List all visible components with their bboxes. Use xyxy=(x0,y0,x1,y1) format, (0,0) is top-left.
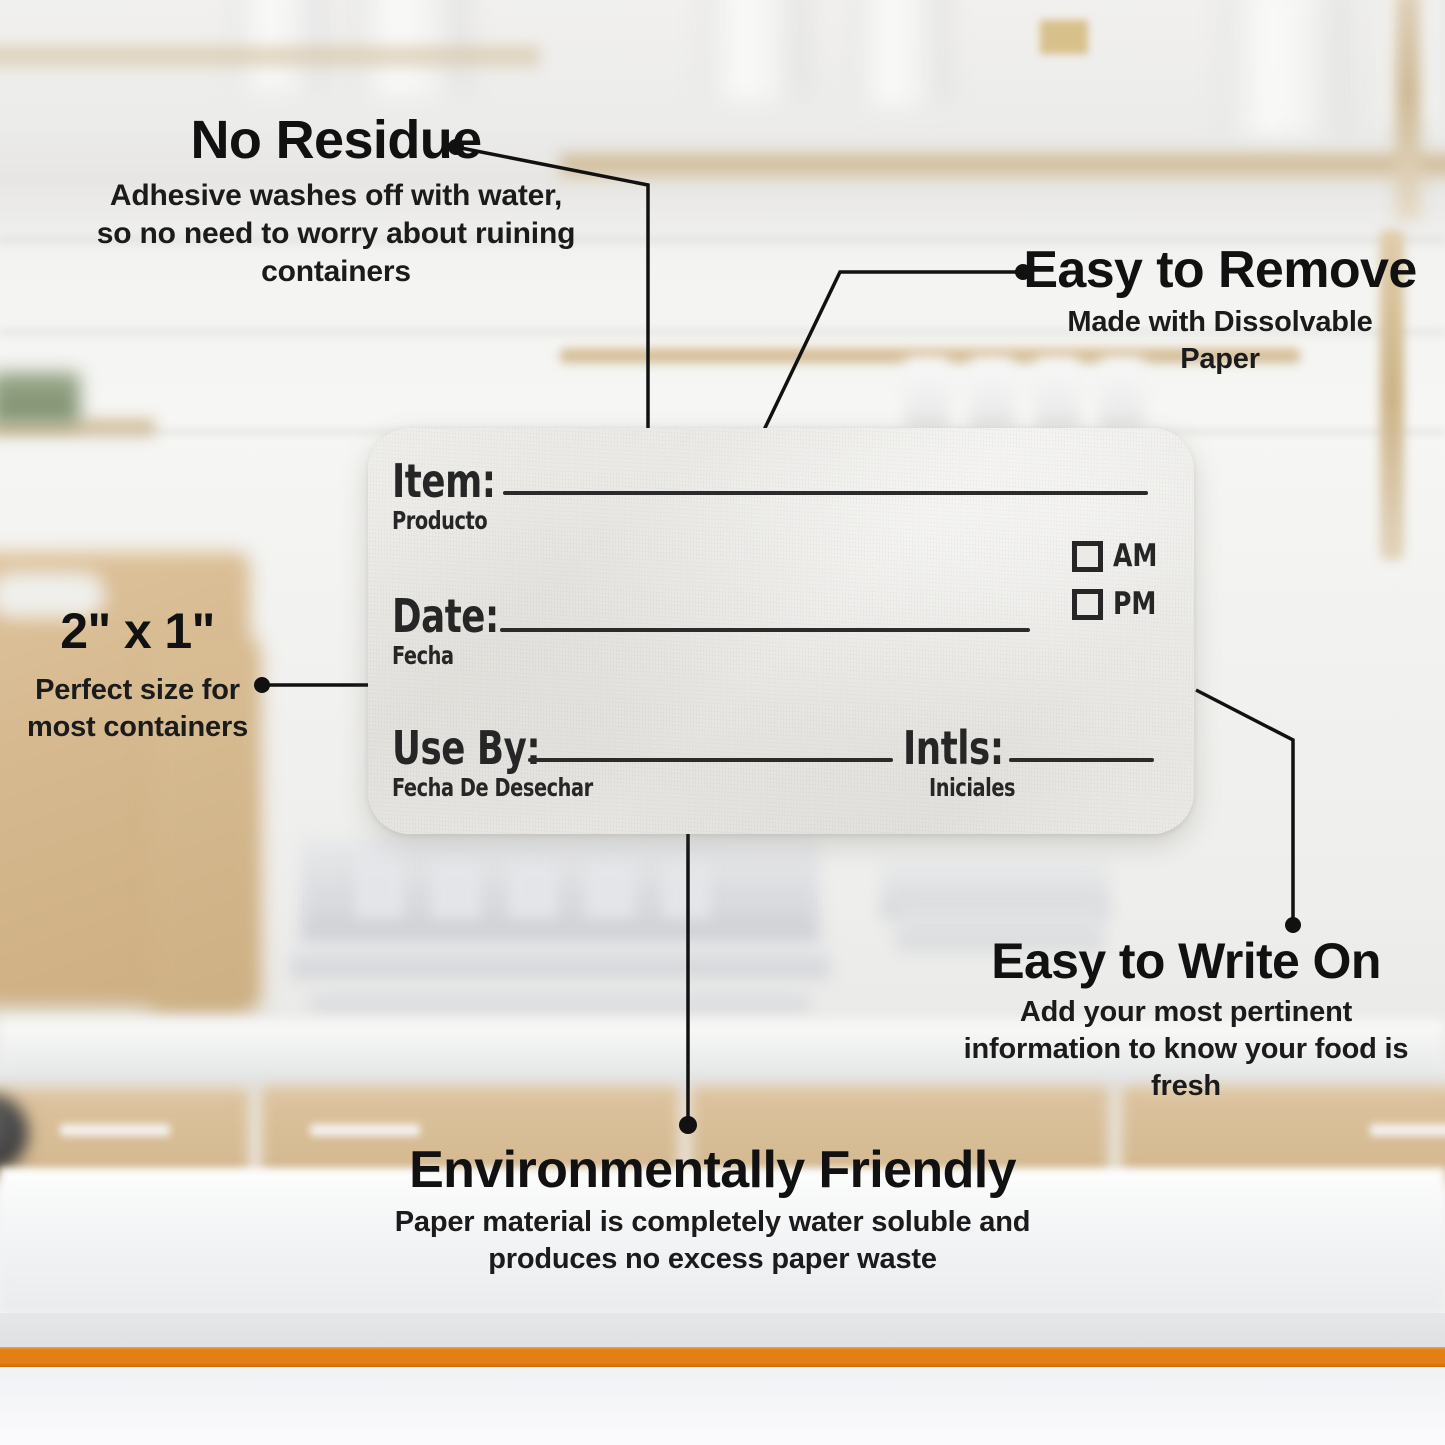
label-ampm-row-am[interactable]: AM xyxy=(1072,538,1162,574)
dish-rack-slot xyxy=(509,846,557,918)
upper-shelf-edge xyxy=(560,152,1445,180)
callout-size: 2" x 1" Perfect size for most containers xyxy=(0,605,275,746)
callout-no-residue-title: No Residue xyxy=(66,112,606,169)
dish-rack-slot xyxy=(663,846,711,918)
callout-body-line: Add your most pertinent xyxy=(930,994,1442,1031)
footer-accent-band xyxy=(0,1347,1445,1367)
dish-rack-tray xyxy=(310,986,810,1012)
callout-body-line: produces no excess paper waste xyxy=(345,1241,1080,1278)
upper-shelf-post xyxy=(1395,0,1421,220)
cabinet-handle xyxy=(1370,1124,1445,1136)
label-field-date: Date: Fecha xyxy=(392,593,516,668)
shelf-jar xyxy=(850,0,950,105)
cabinet-handle xyxy=(60,1124,170,1136)
accent-bar-fill xyxy=(0,1347,1445,1367)
pm-checkbox[interactable] xyxy=(1072,589,1103,620)
callout-body-line: fresh xyxy=(930,1068,1442,1105)
callout-body-line: most containers xyxy=(0,709,275,746)
label-write-line-intls xyxy=(1009,758,1154,762)
shelf-jar xyxy=(1220,0,1350,135)
callout-body-line: Adhesive washes off with water, xyxy=(66,177,606,215)
label-field-item-english: Item: xyxy=(392,458,496,504)
am-label: AM xyxy=(1113,538,1157,574)
pm-label: PM xyxy=(1113,586,1156,622)
callout-body-line: so no need to worry about ruining xyxy=(66,215,606,253)
label-write-line-useby xyxy=(528,758,893,762)
callout-body-line: containers xyxy=(66,253,606,291)
callout-easy-to-write-on: Easy to Write On Add your most pertinent… xyxy=(930,935,1442,1105)
callout-easy-to-write-on-title: Easy to Write On xyxy=(930,935,1442,988)
upper-shelf-edge-left xyxy=(0,45,540,69)
callout-body-line: Paper material is completely water solub… xyxy=(345,1204,1080,1241)
footer-gray-band xyxy=(0,1313,1445,1351)
am-checkbox[interactable] xyxy=(1072,541,1103,572)
hanging-bottle xyxy=(905,356,949,434)
label-field-date-spanish: Fecha xyxy=(392,643,499,668)
label-write-line-date xyxy=(500,628,1030,632)
label-field-date-english: Date: xyxy=(392,593,499,639)
product-label-card[interactable]: Item: Producto Date: Fecha AM PM Use By:… xyxy=(368,428,1194,834)
infographic-canvas: Item: Producto Date: Fecha AM PM Use By:… xyxy=(0,0,1445,1445)
dish-rack-slot xyxy=(586,846,634,918)
shelf-jar xyxy=(700,0,810,100)
callout-easy-to-remove: Easy to Remove Made with Dissolvable Pap… xyxy=(1000,243,1440,378)
callout-environmentally-friendly: Environmentally Friendly Paper material … xyxy=(345,1143,1080,1278)
cabinet-handle xyxy=(310,1124,420,1136)
callout-no-residue: No Residue Adhesive washes off with wate… xyxy=(66,112,606,292)
callout-body-line: Paper xyxy=(1000,341,1440,378)
label-field-item-spanish: Producto xyxy=(392,508,496,533)
callout-body-line: information to know your food is xyxy=(930,1031,1442,1068)
label-ampm-row-pm[interactable]: PM xyxy=(1072,586,1162,622)
callout-easy-to-remove-body: Made with Dissolvable Paper xyxy=(1000,304,1440,378)
callout-size-body: Perfect size for most containers xyxy=(0,672,275,746)
dish-rack-slot xyxy=(432,846,480,918)
callout-body-line: Made with Dissolvable xyxy=(1000,304,1440,341)
callout-no-residue-body: Adhesive washes off with water, so no ne… xyxy=(66,177,606,292)
callout-body-line: Perfect size for xyxy=(0,672,275,709)
label-field-intls-spanish: Iniciales xyxy=(929,775,1015,800)
callout-environmentally-friendly-body: Paper material is completely water solub… xyxy=(345,1204,1080,1278)
callout-size-title: 2" x 1" xyxy=(0,605,275,658)
callout-easy-to-remove-title: Easy to Remove xyxy=(1000,243,1440,298)
dish-rack-slot xyxy=(355,846,403,918)
callout-easy-to-write-on-body: Add your most pertinent information to k… xyxy=(930,994,1442,1105)
dish-rack-base xyxy=(290,944,830,978)
label-field-intls: Intls: Iniciales xyxy=(903,725,1029,800)
label-field-useby-english: Use By: xyxy=(392,725,593,771)
label-field-useby-spanish: Fecha De Desechar xyxy=(392,775,593,800)
label-field-intls-english: Intls: xyxy=(903,725,1011,771)
label-field-item: Item: Producto xyxy=(392,458,512,533)
label-field-useby: Use By: Fecha De Desechar xyxy=(392,725,625,800)
callout-environmentally-friendly-title: Environmentally Friendly xyxy=(345,1143,1080,1198)
label-write-line-item xyxy=(503,491,1148,495)
label-ampm-group[interactable]: AM PM xyxy=(1072,538,1162,634)
green-container xyxy=(0,372,80,424)
tile-seam xyxy=(1040,20,1088,54)
footer-white-band xyxy=(0,1367,1445,1445)
